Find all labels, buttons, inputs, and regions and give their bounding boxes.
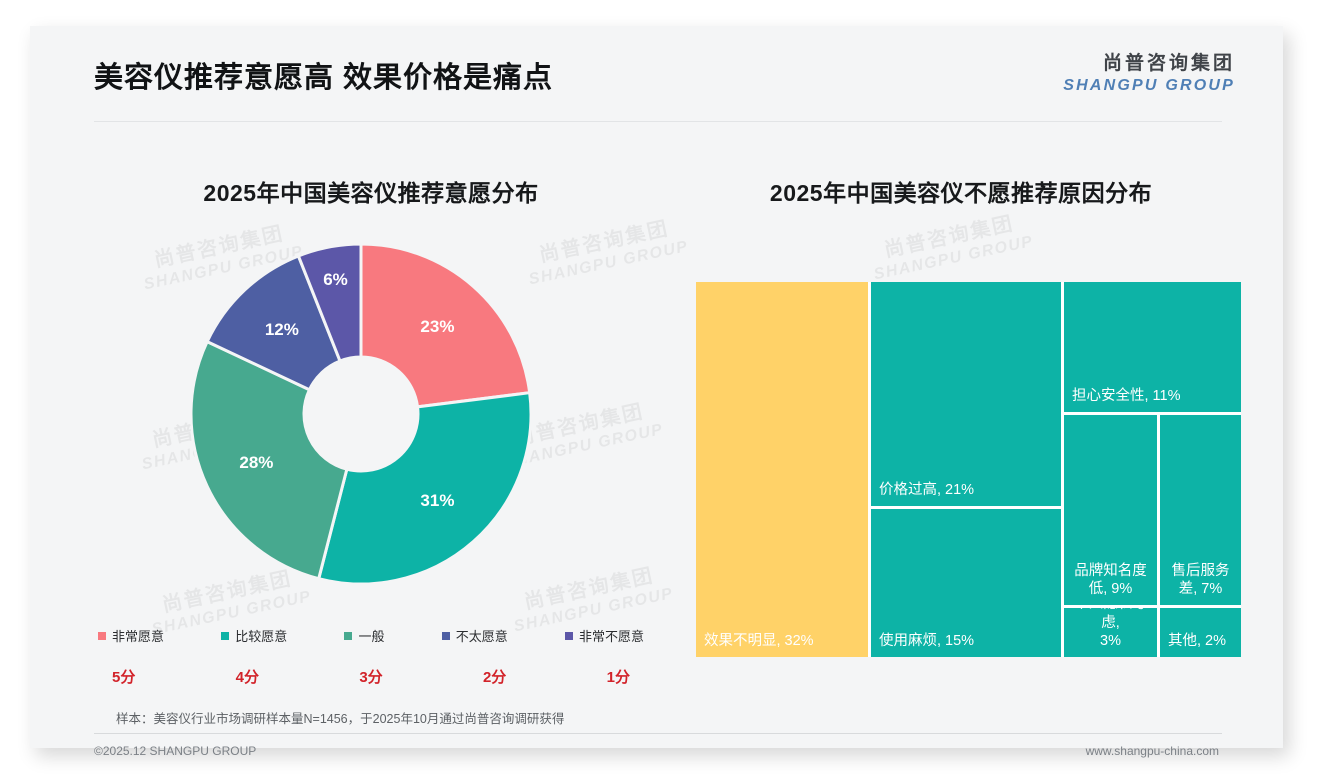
donut-hole xyxy=(304,357,418,471)
legend-swatch-icon xyxy=(221,632,229,640)
treemap-panel: 2025年中国美容仪不愿推荐原因分布 效果不明显, 32%价格过高, 21%使用… xyxy=(676,174,1246,694)
treemap-tile-label: 个人隐私考虑, 3% xyxy=(1064,608,1157,657)
treemap-tile[interactable]: 品牌知名度 低, 9% xyxy=(1064,415,1157,605)
donut-chart-title: 2025年中国美容仪推荐意愿分布 xyxy=(86,174,656,208)
treemap-tile-label: 担心安全性, 11% xyxy=(1064,381,1189,412)
donut-slice-label: 31% xyxy=(420,491,454,511)
score-label: 5分 xyxy=(112,666,135,687)
legend-item[interactable]: 比较愿意 xyxy=(221,626,287,645)
legend-label: 不太愿意 xyxy=(456,626,508,645)
treemap-tile[interactable]: 效果不明显, 32% xyxy=(696,282,868,657)
treemap-title: 2025年中国美容仪不愿推荐原因分布 xyxy=(676,174,1246,208)
header-divider xyxy=(94,121,1222,122)
footer-divider xyxy=(94,733,1222,734)
legend-swatch-icon xyxy=(442,632,450,640)
treemap-tile[interactable]: 个人隐私考虑, 3% xyxy=(1064,608,1157,657)
legend-label: 非常不愿意 xyxy=(579,626,644,645)
legend-swatch-icon xyxy=(344,632,352,640)
donut-chart-area: 23%31%28%12%6% xyxy=(86,244,656,604)
treemap-tile-label: 使用麻烦, 15% xyxy=(871,626,982,657)
slide-card: 尚普咨询集团 SHANGPU GROUP 尚普咨询集团 SHANGPU GROU… xyxy=(30,26,1283,748)
treemap-tile-label: 售后服务 差, 7% xyxy=(1164,556,1238,605)
donut-slice-label: 12% xyxy=(265,320,299,340)
logo-cn-text: 尚普咨询集团 xyxy=(1063,52,1235,76)
treemap-tile[interactable]: 担心安全性, 11% xyxy=(1064,282,1241,412)
sample-note: 样本：美容仪行业市场调研样本量N=1456，于2025年10月通过尚普咨询调研获… xyxy=(116,708,564,727)
brand-logo: 尚普咨询集团 SHANGPU GROUP xyxy=(1063,52,1235,96)
donut-slice-label: 23% xyxy=(420,317,454,337)
treemap-tile-label: 其他, 2% xyxy=(1160,626,1234,657)
legend-item[interactable]: 不太愿意 xyxy=(442,626,508,645)
legend-swatch-icon xyxy=(565,632,573,640)
treemap-chart: 效果不明显, 32%价格过高, 21%使用麻烦, 15%担心安全性, 11%品牌… xyxy=(696,282,1241,657)
legend-item[interactable]: 一般 xyxy=(344,626,384,645)
legend-label: 一般 xyxy=(358,626,384,645)
score-label: 3分 xyxy=(359,666,382,687)
donut-slice-label: 6% xyxy=(323,270,348,290)
score-label: 1分 xyxy=(607,666,630,687)
treemap-tile-label: 品牌知名度 低, 9% xyxy=(1066,556,1155,605)
treemap-tile[interactable]: 其他, 2% xyxy=(1160,608,1241,657)
legend-swatch-icon xyxy=(98,632,106,640)
website-link[interactable]: www.shangpu-china.com xyxy=(1086,744,1219,758)
legend-item[interactable]: 非常不愿意 xyxy=(565,626,644,645)
legend-label: 比较愿意 xyxy=(235,626,287,645)
donut-chart: 23%31%28%12%6% xyxy=(191,244,531,584)
slide-header: 美容仪推荐意愿高 效果价格是痛点 尚普咨询集团 SHANGPU GROUP xyxy=(30,26,1283,122)
score-row: 5分4分3分2分1分 xyxy=(86,666,656,687)
treemap-tile-label: 价格过高, 21% xyxy=(871,475,982,506)
donut-slice-label: 28% xyxy=(239,453,273,473)
treemap-tile-label: 效果不明显, 32% xyxy=(696,626,822,657)
legend-label: 非常愿意 xyxy=(112,626,164,645)
donut-svg xyxy=(191,244,531,584)
copyright-text: ©2025.12 SHANGPU GROUP xyxy=(94,744,256,758)
page-title: 美容仪推荐意愿高 效果价格是痛点 xyxy=(94,54,553,96)
treemap-tile[interactable]: 售后服务 差, 7% xyxy=(1160,415,1241,605)
logo-en-text: SHANGPU GROUP xyxy=(1063,76,1235,96)
score-label: 4分 xyxy=(236,666,259,687)
donut-chart-panel: 2025年中国美容仪推荐意愿分布 23%31%28%12%6% 非常愿意比较愿意… xyxy=(86,174,656,694)
treemap-tile[interactable]: 价格过高, 21% xyxy=(871,282,1061,506)
treemap-tile[interactable]: 使用麻烦, 15% xyxy=(871,509,1061,657)
score-label: 2分 xyxy=(483,666,506,687)
donut-legend: 非常愿意比较愿意一般不太愿意非常不愿意 xyxy=(86,626,656,645)
legend-item[interactable]: 非常愿意 xyxy=(98,626,164,645)
